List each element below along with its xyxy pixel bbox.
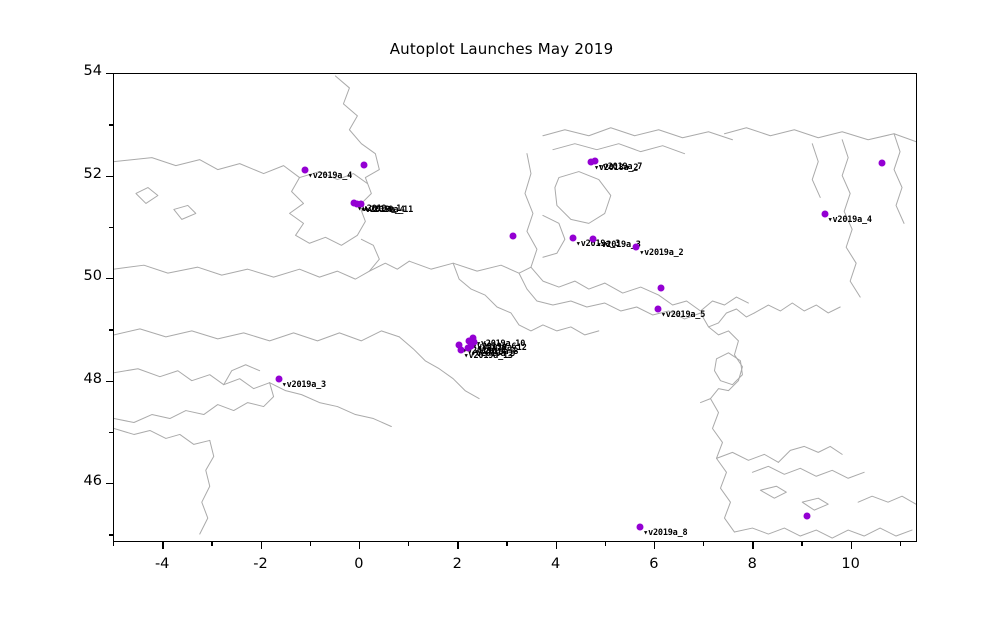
y-tick-minor xyxy=(109,227,113,228)
y-tick-major xyxy=(106,278,113,279)
x-tick-minor xyxy=(310,542,311,546)
y-tick-label: 46 xyxy=(62,473,102,489)
x-tick-label: 4 xyxy=(536,556,576,572)
x-tick-major xyxy=(654,542,655,549)
scatter-point-label: ▾v2019a_3 xyxy=(282,380,326,390)
y-tick-major xyxy=(106,176,113,177)
scatter-point[interactable] xyxy=(510,232,517,239)
y-tick-label: 52 xyxy=(62,166,102,182)
scatter-point[interactable] xyxy=(804,512,811,519)
x-tick-major xyxy=(162,542,163,549)
y-tick-label: 48 xyxy=(62,371,102,387)
x-tick-minor xyxy=(900,542,901,546)
scatter-point-label: ▾v2019a_2 xyxy=(639,248,683,258)
x-tick-label: -2 xyxy=(241,556,281,572)
y-tick-major xyxy=(106,381,113,382)
scatter-points-layer: ▾v2019a_4▾v2019a_1▾v2019a_4▾v2019a_11▾v2… xyxy=(114,74,916,541)
plot-axes-area: ▾v2019a_4▾v2019a_1▾v2019a_4▾v2019a_11▾v2… xyxy=(113,73,917,542)
scatter-point-label: ▾v2018a_2 xyxy=(594,163,638,173)
scatter-point-label: ▾v2019a_11 xyxy=(364,205,413,215)
x-tick-label: 0 xyxy=(339,556,379,572)
y-tick-minor xyxy=(109,329,113,330)
scatter-point-label: ▾v2019a_4 xyxy=(308,171,352,181)
x-tick-label: 10 xyxy=(831,556,871,572)
x-tick-label: -4 xyxy=(142,556,182,572)
x-tick-minor xyxy=(605,542,606,546)
scatter-point[interactable] xyxy=(658,285,665,292)
x-tick-minor xyxy=(211,542,212,546)
x-tick-label: 8 xyxy=(732,556,772,572)
x-tick-major xyxy=(556,542,557,549)
y-tick-major xyxy=(106,73,113,74)
y-tick-minor xyxy=(109,534,113,535)
y-tick-label: 50 xyxy=(62,268,102,284)
page-title: Autoplot Launches May 2019 xyxy=(0,40,1003,58)
scatter-point-label: ▾v2019a_8 xyxy=(643,528,687,538)
y-tick-major xyxy=(106,483,113,484)
figure-canvas: Autoplot Launches May 2019 xyxy=(0,0,1003,633)
x-tick-major xyxy=(752,542,753,549)
scatter-point[interactable] xyxy=(879,159,886,166)
scatter-point-label: ▾v2019a_13 xyxy=(464,351,513,361)
scatter-point[interactable] xyxy=(361,162,368,169)
x-tick-major xyxy=(359,542,360,549)
x-tick-major xyxy=(851,542,852,549)
x-tick-minor xyxy=(408,542,409,546)
x-tick-major xyxy=(457,542,458,549)
x-tick-minor xyxy=(703,542,704,546)
x-tick-minor xyxy=(801,542,802,546)
y-tick-label: 54 xyxy=(62,63,102,79)
x-tick-minor xyxy=(113,542,114,546)
x-tick-label: 2 xyxy=(437,556,477,572)
x-tick-label: 6 xyxy=(634,556,674,572)
x-tick-minor xyxy=(506,542,507,546)
scatter-point-label: ▾v2019a_5 xyxy=(661,310,705,320)
x-tick-major xyxy=(261,542,262,549)
y-tick-minor xyxy=(109,432,113,433)
scatter-point-label: ▾v2019a_4 xyxy=(828,215,872,225)
y-tick-minor xyxy=(109,124,113,125)
